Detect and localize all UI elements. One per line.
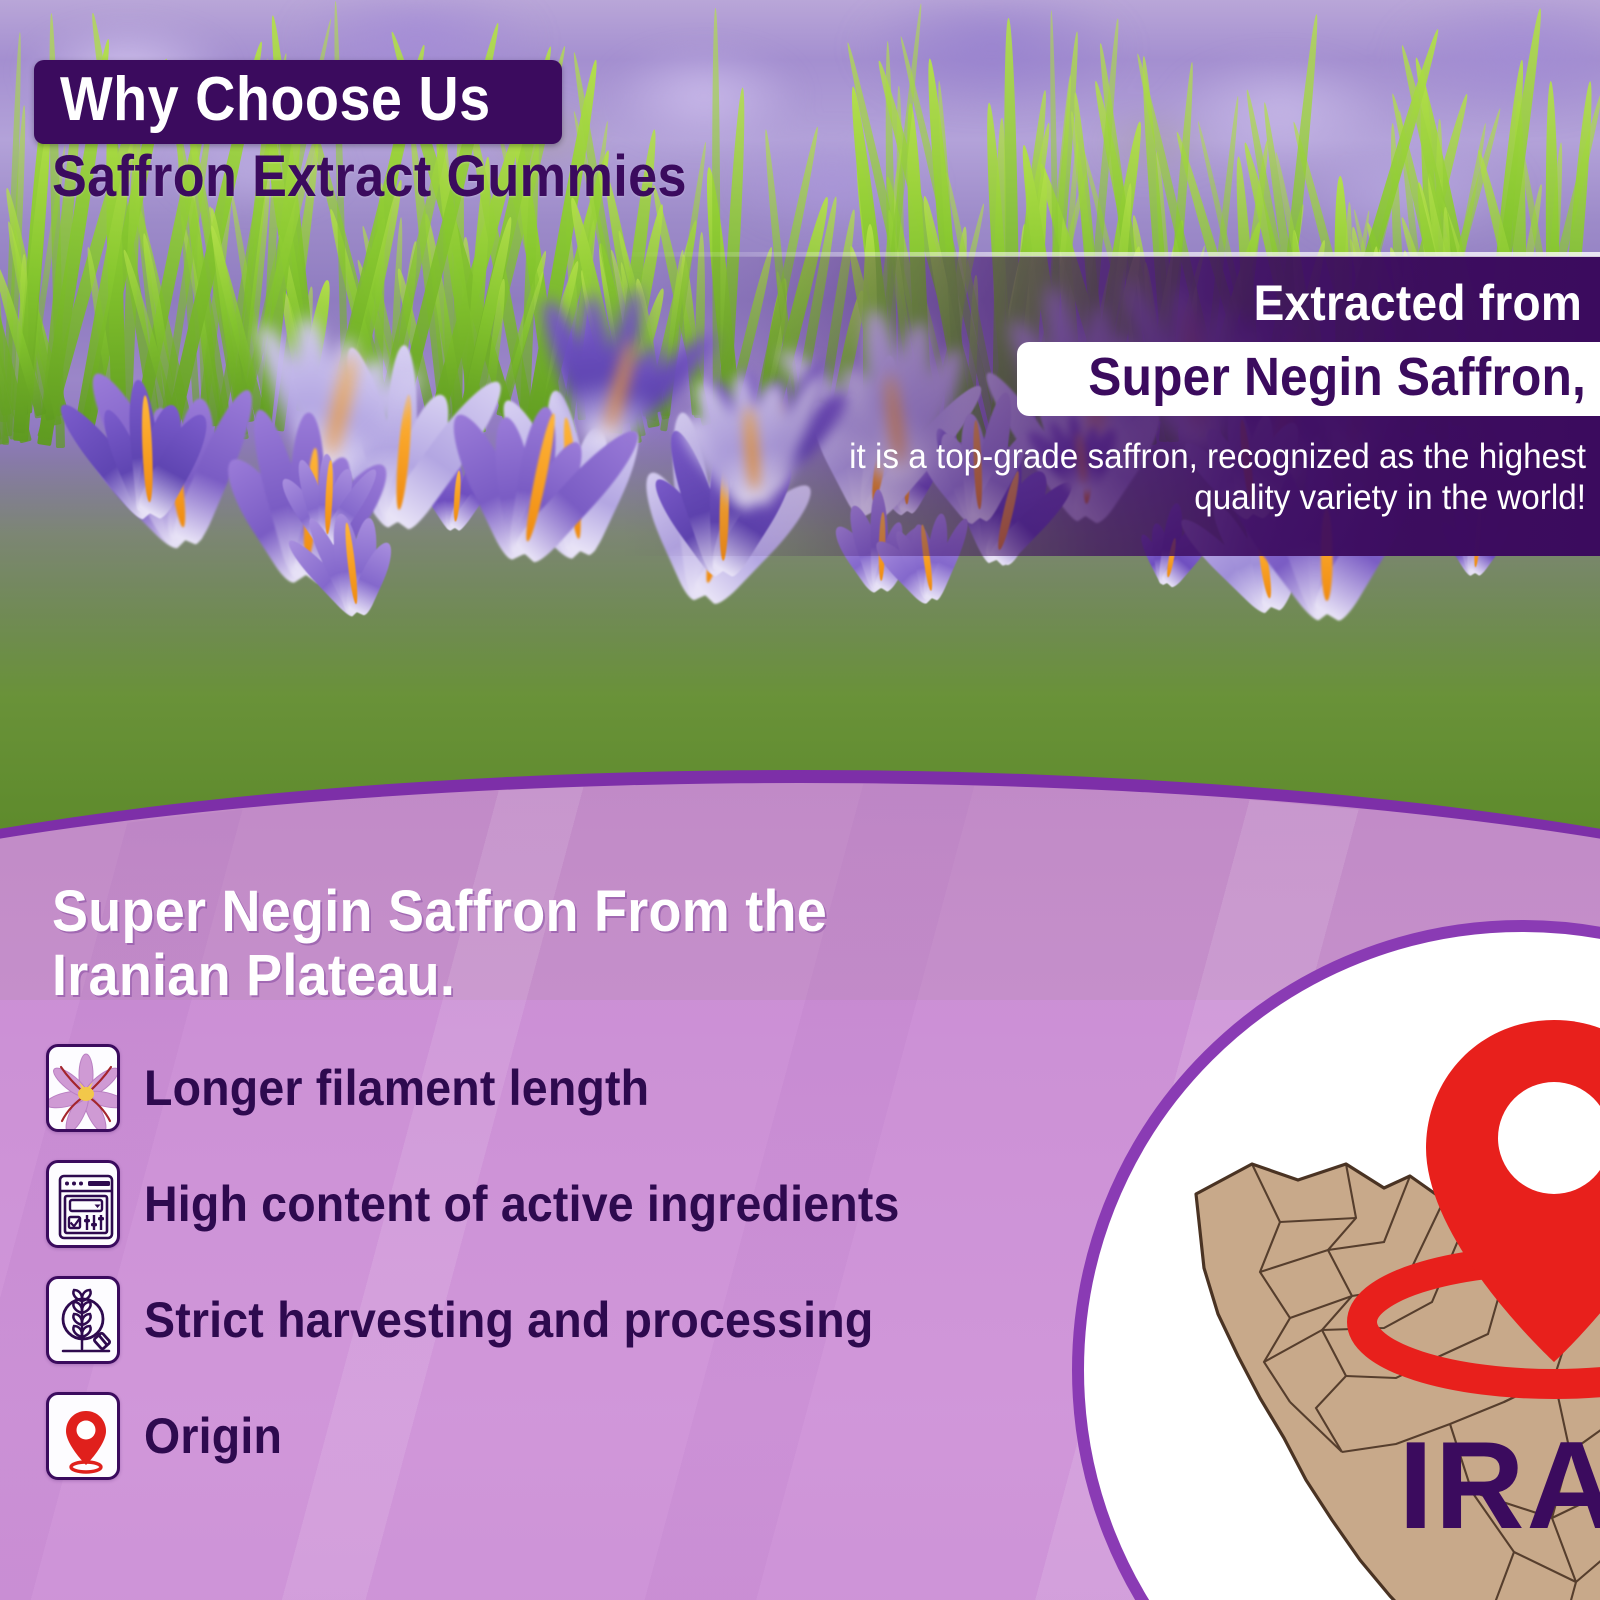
why-choose-us-label: Why Choose Us bbox=[60, 70, 491, 130]
iran-map-graphic: IRAN bbox=[1084, 932, 1600, 1600]
list-item-label: Longer filament length bbox=[144, 1059, 649, 1117]
list-item-label: Strict harvesting and processing bbox=[144, 1291, 873, 1349]
callout-description: it is a top-grade saffron, recognized as… bbox=[788, 436, 1586, 519]
super-negin-label: Super Negin Saffron, bbox=[1088, 350, 1586, 404]
callout-top-highlight bbox=[620, 252, 1600, 257]
saffron-flower-icon bbox=[46, 1044, 120, 1132]
form-panel-icon bbox=[46, 1160, 120, 1248]
callout-eyebrow: Extracted from bbox=[1253, 274, 1582, 332]
map-pin-icon bbox=[46, 1392, 120, 1480]
list-item-label: High content of active ingredients bbox=[144, 1175, 900, 1233]
country-label: IRAN bbox=[1398, 1417, 1600, 1555]
list-item-label: Origin bbox=[144, 1407, 282, 1465]
product-subtitle: Saffron Extract Gummies bbox=[52, 148, 687, 206]
magnifier-wheat-icon bbox=[46, 1276, 120, 1364]
feature-list: Longer filament length bbox=[46, 1040, 1076, 1504]
super-negin-highlight-box: Super Negin Saffron, bbox=[1017, 342, 1600, 416]
section-heading: Super Negin Saffron From the Iranian Pla… bbox=[52, 880, 1001, 1008]
list-item[interactable]: Longer filament length bbox=[46, 1040, 1076, 1136]
list-item[interactable]: Origin bbox=[46, 1388, 1076, 1484]
poster-root: Why Choose Us Saffron Extract Gummies Ex… bbox=[0, 0, 1600, 1600]
extracted-from-callout: Extracted from Super Negin Saffron, it i… bbox=[620, 256, 1600, 556]
list-item[interactable]: High content of active ingredients bbox=[46, 1156, 1076, 1252]
iran-map-panel: IRAN bbox=[1072, 920, 1600, 1600]
why-choose-us-badge: Why Choose Us bbox=[34, 60, 562, 144]
list-item[interactable]: Strict harvesting and processing bbox=[46, 1272, 1076, 1368]
